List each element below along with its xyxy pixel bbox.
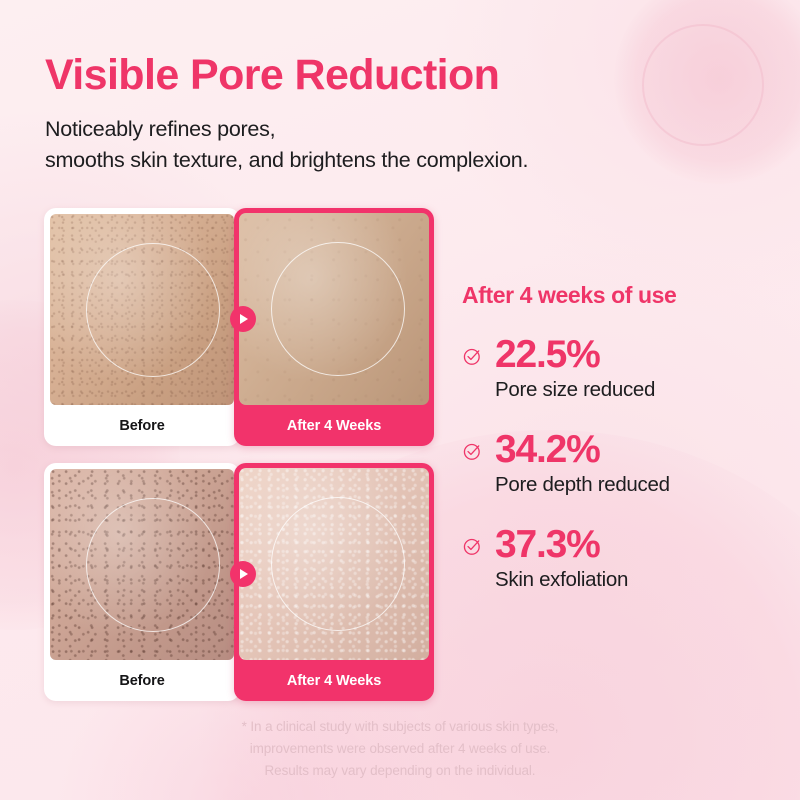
check-circle-icon	[462, 441, 483, 462]
before-after-comparison: Before After 4 Weeks	[44, 208, 434, 718]
stat-label: Pore size reduced	[495, 378, 782, 402]
check-circle-icon	[462, 346, 483, 367]
stat-item: 34.2% Pore depth reduced	[462, 430, 782, 497]
after-card[interactable]: After 4 Weeks	[234, 463, 434, 701]
footnote-line-3: Results may vary depending on the indivi…	[0, 760, 800, 782]
check-circle-icon	[462, 536, 483, 557]
after-caption: After 4 Weeks	[234, 660, 434, 701]
before-caption: Before	[44, 660, 240, 701]
zoom-ring-indicator	[86, 243, 220, 377]
footnote-line-2: improvements were observed after 4 weeks…	[0, 738, 800, 760]
footnote-disclaimer: * In a clinical study with subjects of v…	[0, 716, 800, 782]
after-photo	[239, 213, 429, 405]
zoom-ring-indicator	[86, 498, 220, 632]
zoom-ring-indicator	[271, 242, 405, 376]
page-subtitle: Noticeably refines pores, smooths skin t…	[45, 114, 725, 175]
stat-value: 22.5%	[495, 335, 782, 374]
stats-heading: After 4 weeks of use	[462, 282, 782, 309]
subtitle-line-2: smooths skin texture, and brightens the …	[45, 148, 528, 172]
play-arrow-icon[interactable]	[230, 306, 256, 332]
before-card[interactable]: Before	[44, 463, 240, 701]
footnote-line-1: * In a clinical study with subjects of v…	[0, 716, 800, 738]
before-caption: Before	[44, 405, 240, 446]
subtitle-line-1: Noticeably refines pores,	[45, 117, 275, 141]
after-photo	[239, 468, 429, 660]
stat-text: 34.2% Pore depth reduced	[495, 430, 782, 497]
stat-label: Skin exfoliation	[495, 568, 782, 592]
infographic-page: Visible Pore Reduction Noticeably refine…	[0, 0, 800, 800]
stats-panel: After 4 weeks of use 22.5% Pore size red…	[462, 282, 782, 620]
zoom-ring-indicator	[271, 497, 405, 631]
after-card[interactable]: After 4 Weeks	[234, 208, 434, 446]
before-card[interactable]: Before	[44, 208, 240, 446]
before-photo	[50, 214, 234, 405]
stat-text: 22.5% Pore size reduced	[495, 335, 782, 402]
stat-item: 37.3% Skin exfoliation	[462, 525, 782, 592]
before-photo	[50, 469, 234, 660]
stat-label: Pore depth reduced	[495, 473, 782, 497]
header: Visible Pore Reduction Noticeably refine…	[45, 52, 725, 175]
comparison-row: Before After 4 Weeks	[44, 463, 434, 701]
after-caption: After 4 Weeks	[234, 405, 434, 446]
stat-value: 34.2%	[495, 430, 782, 469]
play-arrow-icon[interactable]	[230, 561, 256, 587]
stat-value: 37.3%	[495, 525, 782, 564]
stat-text: 37.3% Skin exfoliation	[495, 525, 782, 592]
page-title: Visible Pore Reduction	[45, 52, 725, 98]
stat-item: 22.5% Pore size reduced	[462, 335, 782, 402]
comparison-row: Before After 4 Weeks	[44, 208, 434, 446]
